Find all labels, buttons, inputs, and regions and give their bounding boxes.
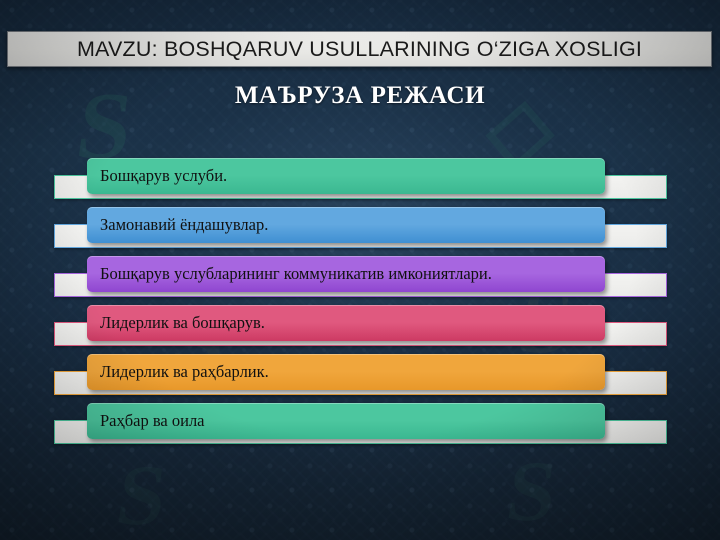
page-title: MAVZU: BOSHQARUV USULLARINING O‘ZIGA XOS… xyxy=(77,37,642,62)
agenda-row: Лидерлик ва бошқарув. xyxy=(0,305,720,354)
slide-title-bar: MAVZU: BOSHQARUV USULLARINING O‘ZIGA XOS… xyxy=(7,31,712,67)
slide-subtitle: МАЪРУЗА РЕЖАСИ xyxy=(0,82,720,110)
agenda-item-label: Бошқарув услубларининг коммуникатив имко… xyxy=(87,264,492,284)
agenda-item-4[interactable]: Лидерлик ва бошқарув. xyxy=(87,305,605,341)
agenda-item-label: Замонавий ёндашувлар. xyxy=(87,215,268,235)
slide-canvas: S ◇ S S S S MAVZU: BOSHQARUV USULLARININ… xyxy=(0,0,720,540)
agenda-item-5[interactable]: Лидерлик ва раҳбарлик. xyxy=(87,354,605,390)
agenda-row: Бошқарув услуби. xyxy=(0,158,720,207)
watermark-logo: S xyxy=(112,452,172,538)
agenda-item-label: Лидерлик ва бошқарув. xyxy=(87,313,265,333)
agenda-item-2[interactable]: Замонавий ёндашувлар. xyxy=(87,207,605,243)
agenda-list: Бошқарув услуби.Замонавий ёндашувлар.Бош… xyxy=(0,158,720,452)
watermark-logo: S xyxy=(502,448,562,534)
agenda-item-1[interactable]: Бошқарув услуби. xyxy=(87,158,605,194)
agenda-row: Бошқарув услубларининг коммуникатив имко… xyxy=(0,256,720,305)
agenda-item-3[interactable]: Бошқарув услубларининг коммуникатив имко… xyxy=(87,256,605,292)
agenda-row: Лидерлик ва раҳбарлик. xyxy=(0,354,720,403)
agenda-item-label: Лидерлик ва раҳбарлик. xyxy=(87,362,269,382)
agenda-item-6[interactable]: Раҳбар ва оила xyxy=(87,403,605,439)
agenda-row: Замонавий ёндашувлар. xyxy=(0,207,720,256)
agenda-item-label: Бошқарув услуби. xyxy=(87,166,227,186)
agenda-item-label: Раҳбар ва оила xyxy=(87,411,205,431)
agenda-row: Раҳбар ва оила xyxy=(0,403,720,452)
